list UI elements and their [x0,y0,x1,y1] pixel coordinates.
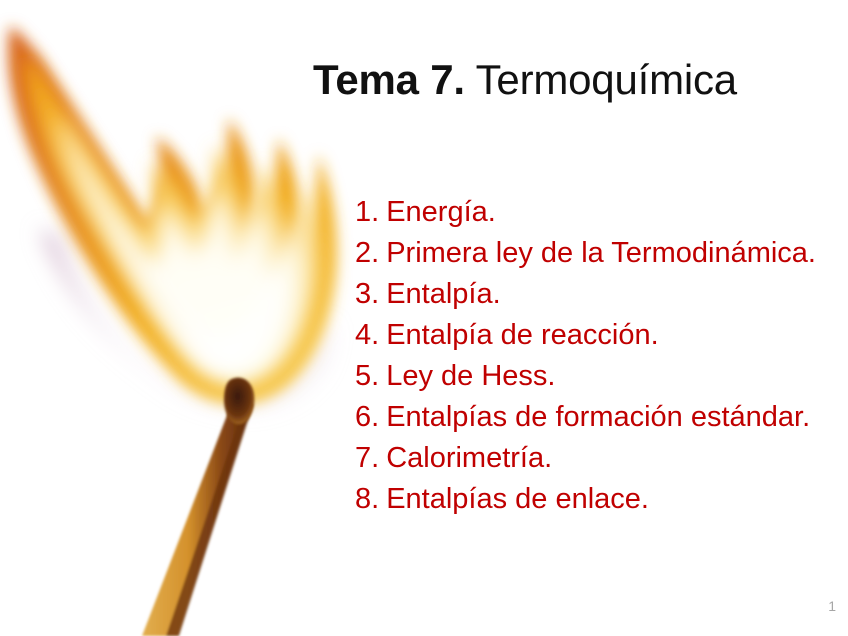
flame-mid-layer [24,56,316,381]
list-item-label: Primera ley de la Termodinámica. [386,233,816,274]
list-item: 7. Calorimetría. [355,438,845,479]
list-item-number: 3. [355,274,379,315]
list-item: 4. Entalpía de reacción. [355,315,845,356]
list-item-label: Entalpía. [386,274,500,315]
burning-match-illustration [0,0,360,636]
list-item-number: 2. [355,233,379,274]
match-stick [142,392,253,636]
list-item-label: Ley de Hess. [386,356,555,397]
flame-outer-layer [8,26,337,405]
list-item-number: 1. [355,192,379,233]
list-item: 5. Ley de Hess. [355,356,845,397]
slide-number: 1 [812,598,836,614]
list-item: 8. Entalpías de enlace. [355,479,845,520]
presentation-slide: Tema 7. Termoquímica 1. Energía. 2. Prim… [0,0,848,636]
list-item-number: 6. [355,397,379,438]
list-item: 6. Entalpías de formación estándar. [355,397,845,438]
list-item-number: 4. [355,315,379,356]
list-item-label: Entalpías de enlace. [386,479,649,520]
flame-core [58,115,300,378]
flame-highlight [110,216,276,369]
list-item-number: 5. [355,356,379,397]
match-charred-tip [224,378,254,425]
flame-haze [40,228,332,411]
title-rest: Termoquímica [465,56,737,103]
outline-list: 1. Energía. 2. Primera ley de la Termodi… [355,192,845,520]
list-item-number: 7. [355,438,379,479]
list-item-number: 8. [355,479,379,520]
page-title: Tema 7. Termoquímica [313,56,737,103]
list-item: 1. Energía. [355,192,845,233]
title-strong: Tema 7. [313,56,465,103]
list-item-label: Entalpías de formación estándar. [386,397,810,438]
list-item-label: Calorimetría. [386,438,552,479]
list-item-label: Entalpía de reacción. [386,315,658,356]
list-item: 2. Primera ley de la Termodinámica. [355,233,845,274]
list-item-label: Energía. [386,192,496,233]
list-item: 3. Entalpía. [355,274,845,315]
